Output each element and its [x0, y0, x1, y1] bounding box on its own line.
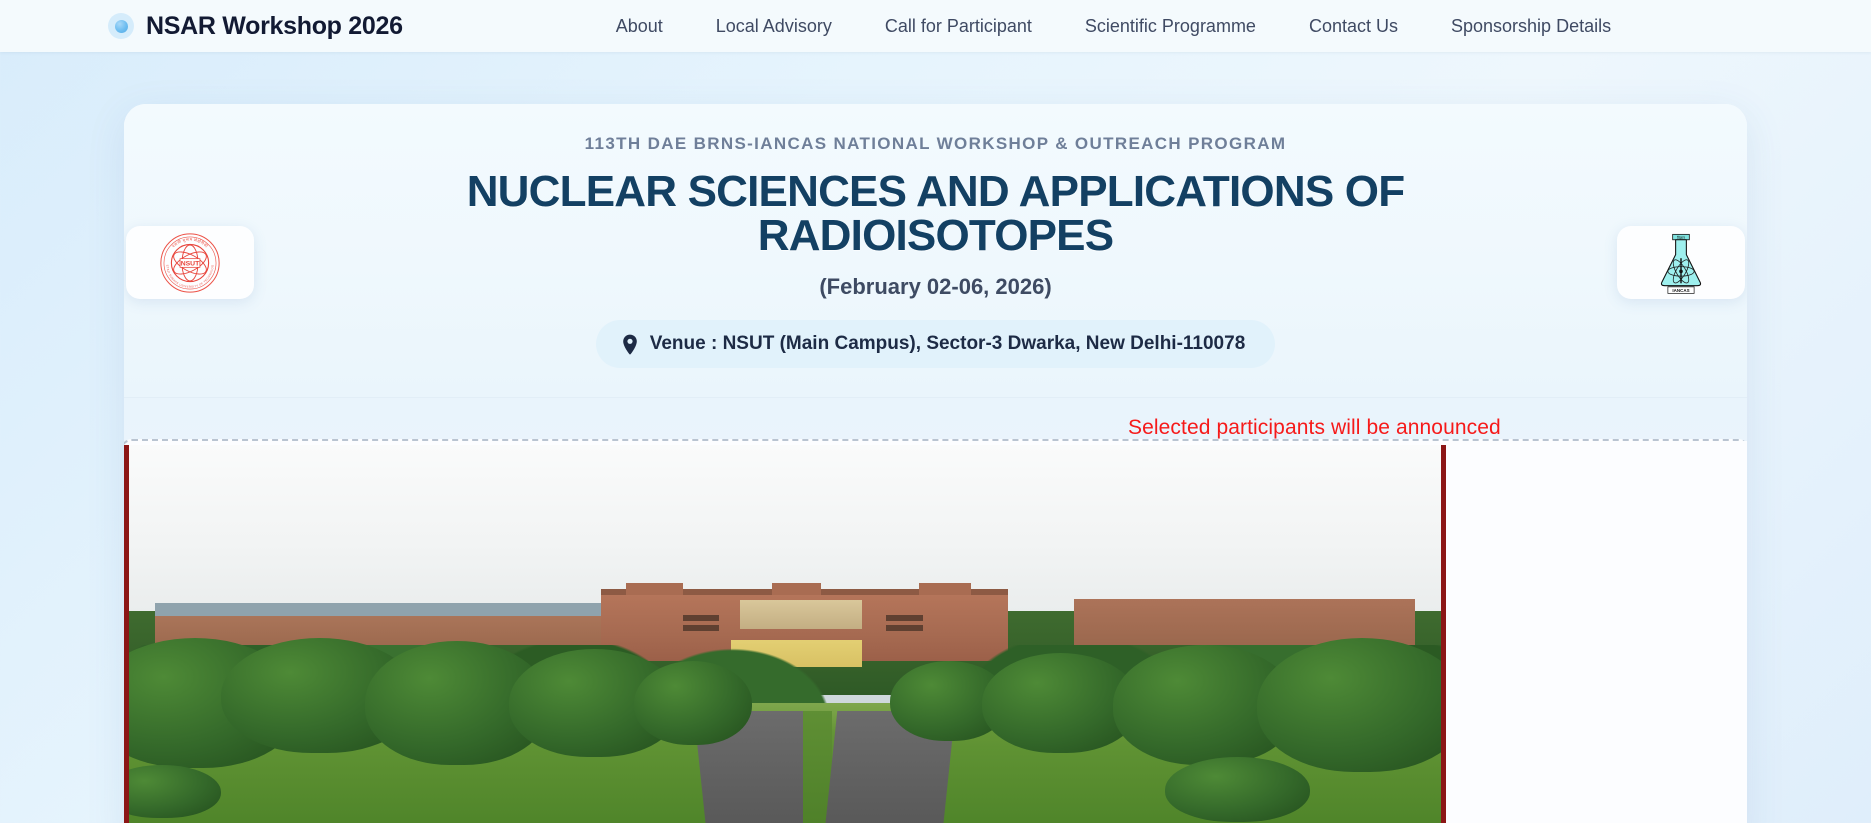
hero-header: NSUT नेताजी सुभाष प्रौद्योगिकी NETAJI SU…: [124, 104, 1747, 398]
nav-item-contact-us[interactable]: Contact Us: [1309, 16, 1398, 37]
hero-dates: (February 02-06, 2026): [124, 274, 1747, 300]
nav-item-scientific-programme[interactable]: Scientific Programme: [1085, 16, 1256, 37]
primary-nav: About Local Advisory Call for Participan…: [616, 16, 1611, 37]
location-pin-icon: [622, 334, 638, 355]
page-title: NUCLEAR SCIENCES AND APPLICATIONS OF RAD…: [436, 170, 1436, 258]
nsut-campus-photo: [124, 445, 1446, 823]
venue-badge[interactable]: Venue : NSUT (Main Campus), Sector-3 Dwa…: [596, 320, 1276, 368]
top-navigation-bar: NSAR Workshop 2026 About Local Advisory …: [0, 0, 1871, 52]
campus-photo-frame: [124, 439, 1747, 823]
brand-logo-link[interactable]: NSAR Workshop 2026: [108, 12, 403, 41]
page-body: NSUT नेताजी सुभाष प्रौद्योगिकी NETAJI SU…: [0, 52, 1871, 823]
main-card: NSUT नेताजी सुभाष प्रौद्योगिकी NETAJI SU…: [124, 104, 1747, 823]
nav-item-call-for-participant[interactable]: Call for Participant: [885, 16, 1032, 37]
blue-dot-logo-icon: [108, 13, 134, 39]
nav-item-about[interactable]: About: [616, 16, 663, 37]
nav-item-sponsorship-details[interactable]: Sponsorship Details: [1451, 16, 1611, 37]
announcement-text: Selected participants will be announced: [1128, 416, 1501, 440]
nav-item-local-advisory[interactable]: Local Advisory: [716, 16, 832, 37]
venue-text: Venue : NSUT (Main Campus), Sector-3 Dwa…: [650, 333, 1246, 355]
hero-eyebrow: 113TH DAE BRNS-IANCAS NATIONAL WORKSHOP …: [124, 134, 1747, 154]
photo-frame-gap: [1454, 441, 1747, 823]
brand-title: NSAR Workshop 2026: [146, 12, 403, 41]
